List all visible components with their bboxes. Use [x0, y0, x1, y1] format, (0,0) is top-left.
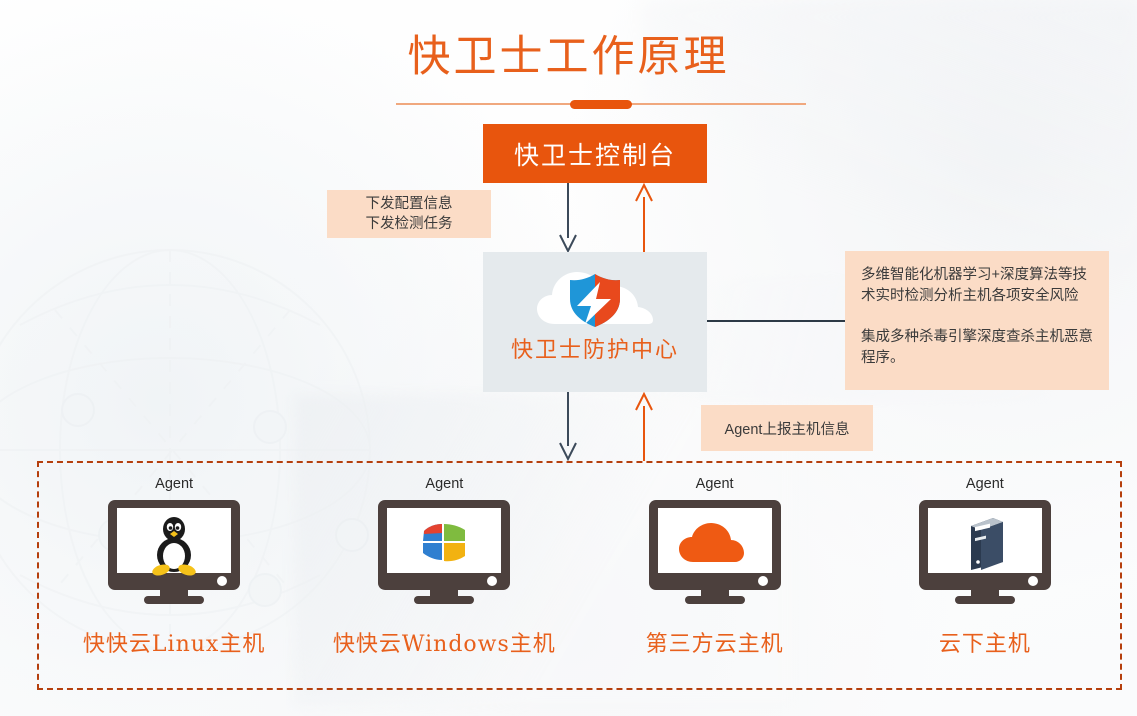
callout-detection-capabilities: 多维智能化机器学习+深度算法等技术实时检测分析主机各项安全风险 集成多种杀毒引擎… [845, 251, 1109, 390]
page-title: 快卫士工作原理 [0, 22, 1137, 84]
cloud-shield-logo [537, 266, 653, 328]
connector-center-to-right-note [707, 320, 847, 322]
agent-label: Agent [425, 476, 463, 492]
callout-line-2: 下发检测任务 [366, 214, 453, 234]
agent-label: Agent [696, 476, 734, 492]
callout-paragraph-2: 集成多种杀毒引擎深度查杀主机恶意程序。 [861, 327, 1093, 369]
host-label: 云下主机 [939, 626, 1031, 658]
host-card-thirdparty-cloud[interactable]: Agent 第三方云主机 [580, 463, 850, 688]
callout-agent-report-text: Agent上报主机信息 [725, 418, 850, 439]
divider-accent-segment [570, 100, 632, 109]
agent-label: Agent [155, 476, 193, 492]
console-box[interactable]: 快卫士控制台 [483, 124, 707, 183]
agent-label: Agent [966, 476, 1004, 492]
protection-center-label: 快卫士防护中心 [511, 332, 679, 364]
monitor-icon [645, 500, 785, 604]
callout-paragraph-1: 多维智能化机器学习+深度算法等技术实时检测分析主机各项安全风险 [861, 265, 1093, 307]
arrow-center-to-console [632, 183, 656, 253]
monitor-icon [915, 500, 1055, 604]
monitor-icon [104, 500, 244, 604]
hosts-group: Agent 快 [37, 461, 1122, 690]
monitor-icon [374, 500, 514, 604]
protection-center-box[interactable]: 快卫士防护中心 [483, 252, 707, 392]
diagram-canvas: 快卫士工作原理 快卫士控制台 快卫士防护中心 下发配置信 [0, 0, 1137, 716]
host-label: 第三方云主机 [646, 626, 784, 658]
callout-line-1: 下发配置信息 [366, 194, 453, 214]
callout-agent-report: Agent上报主机信息 [701, 405, 873, 451]
arrow-hosts-to-center [632, 392, 656, 461]
title-divider [396, 99, 806, 109]
arrow-center-to-hosts [556, 392, 580, 461]
host-card-onprem[interactable]: Agent 云下主机 [850, 463, 1120, 688]
host-label: 快快云Windows主机 [333, 626, 556, 658]
console-label: 快卫士控制台 [514, 136, 676, 172]
host-label: 快快云Linux主机 [83, 626, 265, 658]
callout-dispatch-config: 下发配置信息 下发检测任务 [327, 190, 491, 238]
arrow-console-to-center [556, 183, 580, 253]
host-card-linux[interactable]: Agent 快 [39, 463, 309, 688]
host-card-windows[interactable]: Agent 快快云Windows主机 [309, 463, 579, 688]
